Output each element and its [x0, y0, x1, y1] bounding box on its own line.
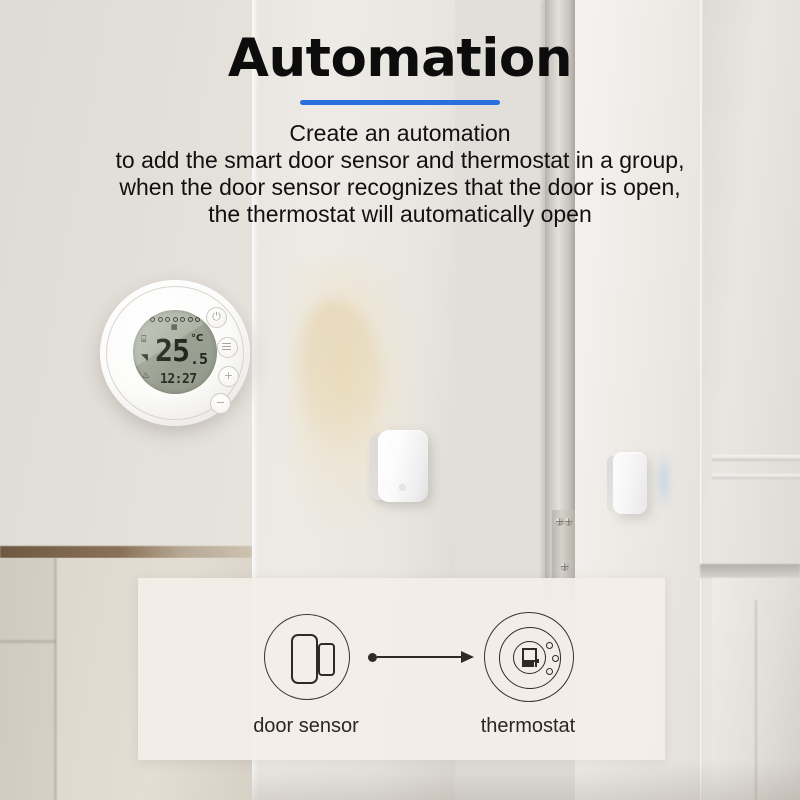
diagram-label-thermostat: thermostat [438, 715, 618, 738]
thermostat-lcd-screen: ▦ ⌸ ◥ ♨ 25 °C .5 12:27 [133, 310, 217, 394]
thermostat-icon-bar [522, 661, 534, 667]
door-sensor-main-module [378, 430, 428, 502]
background-drawer-seam [0, 640, 56, 643]
thermostat-increase-button[interactable]: + [218, 366, 239, 387]
automation-promo-image: Automation Create an automation to add t… [0, 0, 800, 800]
background-cabinet-seam [54, 558, 57, 800]
background-moulding-secondary [712, 474, 800, 479]
background-counter-top [0, 546, 252, 558]
background-moulding [712, 455, 800, 461]
connector-line [377, 656, 463, 658]
hinge-screw-icon [564, 517, 573, 526]
thermostat-power-button[interactable]: ⏻ [206, 307, 227, 328]
thermostat-menu-button[interactable] [217, 337, 238, 358]
door-sensor-magnet-module [613, 452, 647, 514]
door-sensor-magnet-icon [318, 643, 335, 676]
thermostat-icon-button-dot [546, 668, 553, 675]
page-title: Automation [0, 28, 800, 89]
background-blue-glint [656, 450, 672, 510]
arrow-right-icon [461, 651, 474, 663]
thermostat-icon-button-dot [552, 655, 559, 662]
hinge-screw-icon [560, 562, 569, 571]
door-sensor-icon [291, 634, 318, 684]
title-accent-rule [300, 100, 500, 105]
thermostat-icon [499, 627, 561, 689]
thermostat-icon-core [513, 641, 546, 674]
diagram-node-thermostat[interactable] [484, 612, 574, 702]
hamburger-icon [222, 343, 231, 350]
page-subtitle: Create an automation to add the smart do… [0, 120, 800, 228]
thermostat-device: ▦ ⌸ ◥ ♨ 25 °C .5 12:27 ⏻ + − [100, 280, 250, 426]
background-floor-shadow [252, 760, 800, 800]
connector-origin-dot-icon [368, 653, 377, 662]
background-window-sill [700, 564, 800, 578]
thermostat-icon-button-dot [546, 642, 553, 649]
diagram-label-door-sensor: door sensor [216, 715, 396, 738]
hinge-screw-icon [555, 517, 564, 526]
diagram-node-door-sensor[interactable] [264, 614, 350, 700]
thermostat-icon-tick [535, 660, 537, 667]
diagram-connector [368, 650, 476, 664]
thermostat-decrease-button[interactable]: − [210, 393, 231, 414]
door-sensor-led-icon [399, 484, 406, 491]
background-hinge-plate [552, 510, 576, 580]
